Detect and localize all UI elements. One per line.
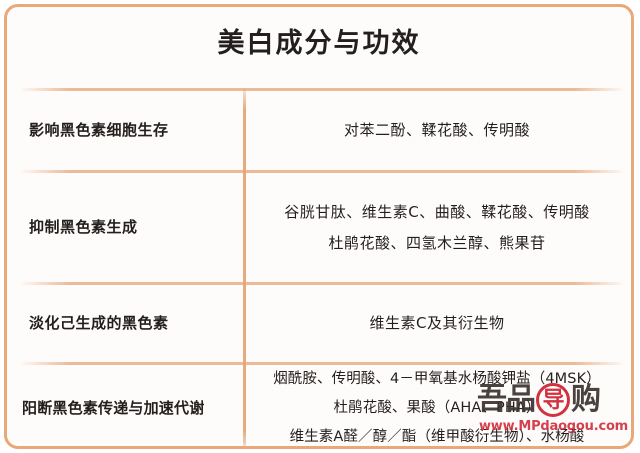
- page-title: 美白成分与功效: [7, 21, 631, 60]
- row-ingredients-cell: 谷胱甘肽、维生素C、曲酸、鞣花酸、传明酸 杜鹃花酸、四氢木兰醇、熊果苷: [243, 197, 631, 259]
- row-ingredients-cell: 烟酰胺、传明酸、4－甲氧基水杨酸钾盐（4MSK） 杜鹃花酸、果酸（AHA、PHA…: [243, 365, 631, 449]
- ingredient-line: 杜鹃花酸、四氢木兰醇、熊果苷: [251, 228, 623, 259]
- row-effect-label: 抑制黑色素生成: [7, 217, 243, 238]
- ingredient-line: 维生素C及其衍生物: [251, 308, 623, 339]
- row-effect-label: 淡化己生成的黑色素: [7, 313, 243, 334]
- ingredient-line: 维生素A醛／醇／酯（维甲酸衍生物）、水杨酸: [251, 423, 623, 449]
- row-ingredients-cell: 对苯二酚、鞣花酸、传明酸: [243, 115, 631, 146]
- table-row: 抑制黑色素生成 谷胱甘肽、维生素C、曲酸、鞣花酸、传明酸 杜鹃花酸、四氢木兰醇、…: [7, 173, 631, 282]
- ingredient-line: 对苯二酚、鞣花酸、传明酸: [251, 115, 623, 146]
- table-row: 淡化己生成的黑色素 维生素C及其衍生物: [7, 285, 631, 362]
- table-row: 阳断黑色素传递与加速代谢 烟酰胺、传明酸、4－甲氧基水杨酸钾盐（4MSK） 杜鹃…: [7, 365, 631, 449]
- title-zone: 美白成分与功效: [7, 7, 631, 85]
- row-effect-label: 阳断黑色素传递与加速代谢: [7, 398, 243, 419]
- row-ingredients-cell: 维生素C及其衍生物: [243, 308, 631, 339]
- ingredient-line: 烟酰胺、传明酸、4－甲氧基水杨酸钾盐（4MSK）: [251, 365, 623, 394]
- ingredient-line: 杜鹃花酸、果酸（AHA、PHA）: [251, 394, 623, 423]
- whitening-ingredients-table-card: 美白成分与功效 影响黑色素细胞生存 对苯二酚、鞣花酸、传明酸 抑制黑色素生成 谷…: [4, 4, 634, 449]
- row-effect-label: 影响黑色素细胞生存: [7, 120, 243, 141]
- ingredients-table: 影响黑色素细胞生存 对苯二酚、鞣花酸、传明酸 抑制黑色素生成 谷胱甘肽、维生素C…: [7, 85, 631, 449]
- ingredient-line: 谷胱甘肽、维生素C、曲酸、鞣花酸、传明酸: [251, 197, 623, 228]
- table-row: 影响黑色素细胞生存 对苯二酚、鞣花酸、传明酸: [7, 91, 631, 170]
